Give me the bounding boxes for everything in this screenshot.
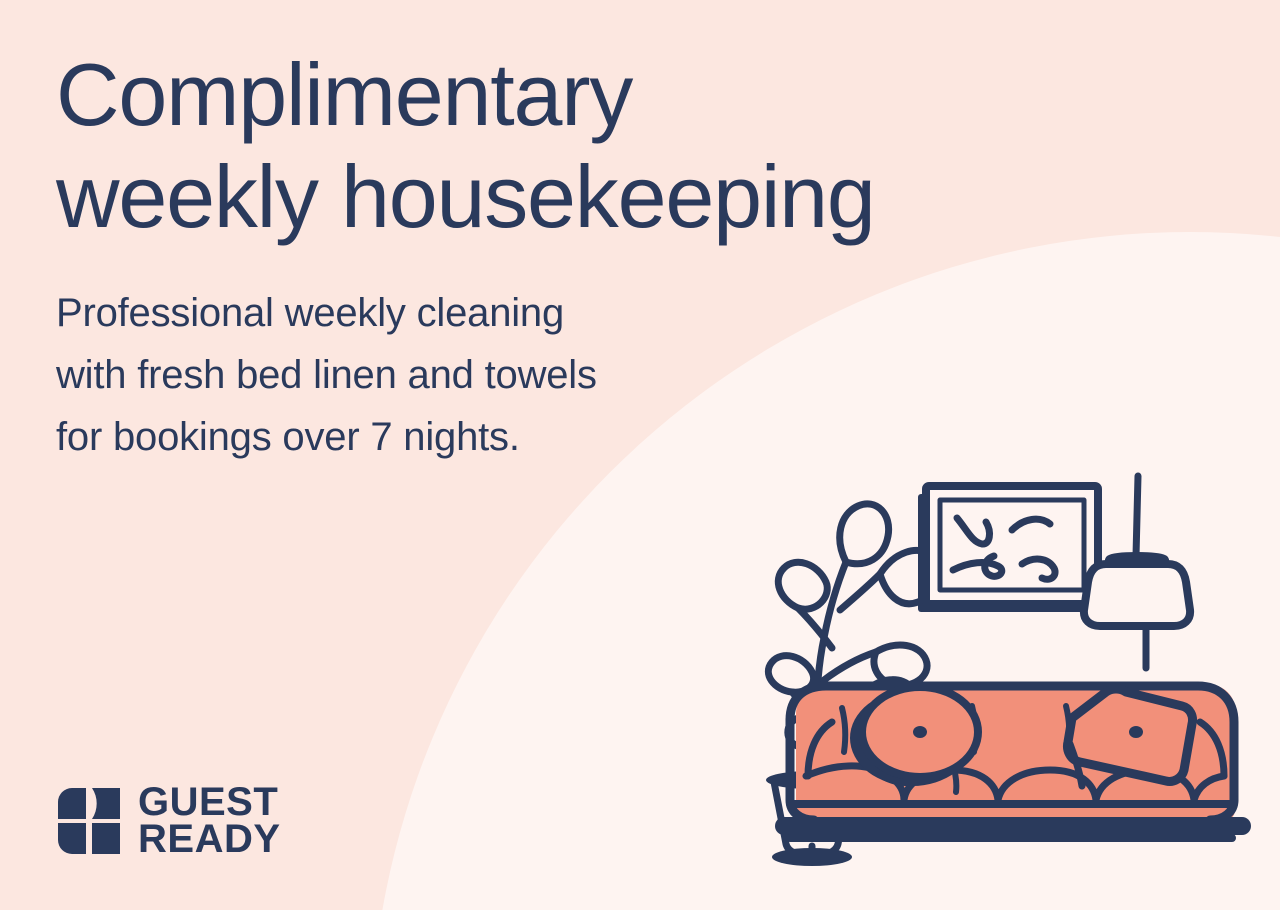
subheading-text: Professional weekly cleaning with fresh … (56, 282, 1066, 468)
page-title: Complimentary weekly housekeeping (56, 44, 1066, 248)
logo-word-bottom: READY (138, 821, 281, 858)
promo-banner: Complimentary weekly housekeeping Profes… (0, 0, 1280, 910)
framed-artwork-icon (918, 486, 1098, 612)
sofa-icon (784, 684, 1242, 838)
text-block: Complimentary weekly housekeeping Profes… (56, 44, 1066, 468)
logo-word-top: GUEST (138, 784, 281, 821)
logo-wordmark: GUEST READY (138, 784, 281, 858)
guestready-logo[interactable]: GUEST READY (58, 784, 281, 858)
living-room-illustration (754, 470, 1274, 870)
guestready-mark-icon (58, 788, 120, 854)
